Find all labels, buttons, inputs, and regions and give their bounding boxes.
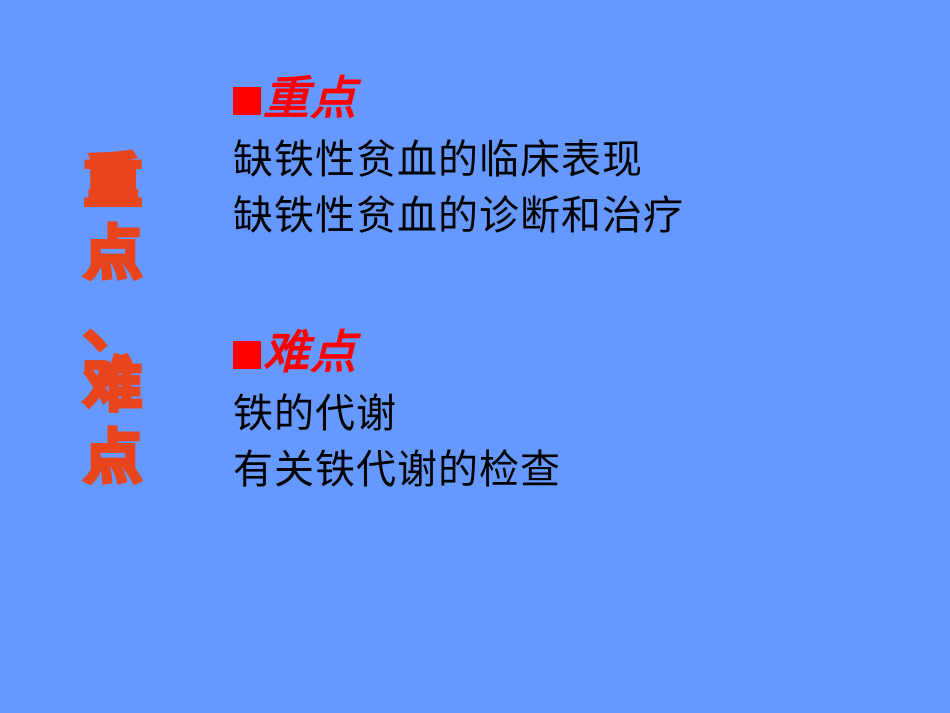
side-title-char-5: 点	[72, 428, 154, 488]
list-item: 缺铁性贫血的临床表现	[233, 132, 923, 188]
side-title-char-2: 点	[72, 224, 154, 284]
list-item: 铁的代谢	[233, 386, 923, 442]
square-bullet-icon	[233, 341, 261, 369]
side-title-char-1: 重	[72, 152, 154, 212]
list-item: 有关铁代谢的检查	[233, 442, 923, 498]
slide-content: 重点 缺铁性贫血的临床表现 缺铁性贫血的诊断和治疗 难点 铁的代谢 有关铁代谢的…	[233, 72, 923, 498]
square-bullet-icon	[233, 87, 261, 115]
section-heading-key-points: 重点	[233, 72, 923, 126]
side-title-char-separator: 、	[72, 296, 154, 338]
vertical-side-title: 重 点 、 难 点	[72, 152, 154, 488]
section-difficult-points: 难点 铁的代谢 有关铁代谢的检查	[233, 326, 923, 498]
list-item: 缺铁性贫血的诊断和治疗	[233, 188, 923, 244]
side-title-char-4: 难	[72, 356, 154, 416]
slide-canvas: 重 点 、 难 点 重点 缺铁性贫血的临床表现 缺铁性贫血的诊断和治疗 难点 铁…	[0, 0, 950, 713]
section-heading-difficult-points: 难点	[233, 326, 923, 380]
section-key-points: 重点 缺铁性贫血的临床表现 缺铁性贫血的诊断和治疗	[233, 72, 923, 244]
section-heading-label: 重点	[263, 76, 357, 122]
section-heading-label: 难点	[263, 330, 357, 376]
section-spacer	[233, 290, 923, 326]
